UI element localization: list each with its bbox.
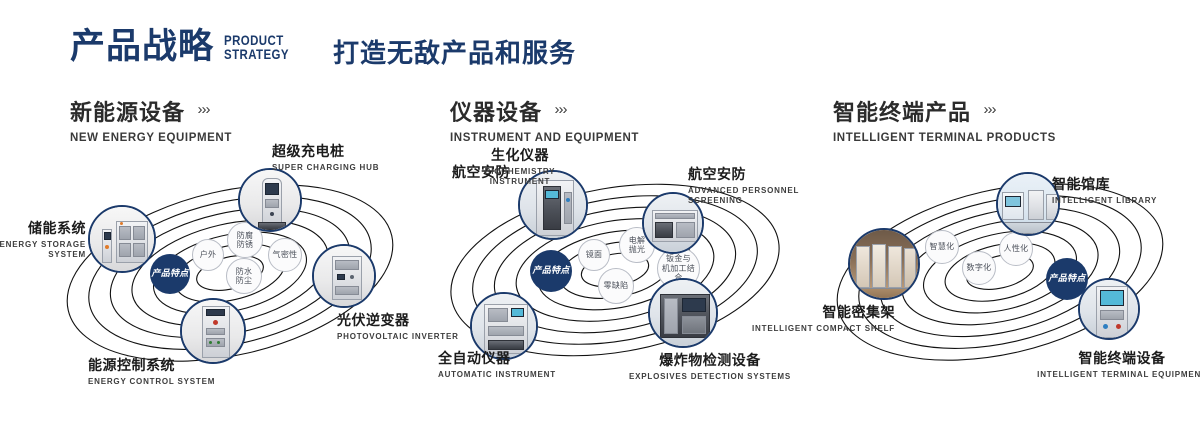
feature-bubble-waterproof: 防水 防尘 (226, 258, 262, 294)
feature-bubble-label: 智慧化 (930, 242, 955, 252)
node-label-energy-storage: 储能系统 ENERGY STORAGE SYSTEM (0, 218, 86, 260)
node-label-en: ADVANCED PERSONNEL SCREENING (688, 186, 818, 206)
feature-bubble-outdoor: 户外 (192, 239, 224, 271)
section-title-cn: 智能终端产品 (833, 95, 971, 127)
diagram-group-instrument: 产品特点 镜面 电解 抛光 零缺陷 钣金与 机加工结合 航空安防 生化仪器 BI… (430, 150, 830, 390)
feature-bubble-label: 镜面 (586, 250, 603, 260)
node-label-cn: 航空安防 (688, 164, 818, 184)
page-header: 产品战略 PRODUCT STRATEGY 打造无敌产品和服务 (0, 0, 1200, 88)
node-label-en: EXPLOSIVES DETECTION SYSTEMS (610, 372, 810, 382)
feature-bubble-humanized: 人性化 (999, 232, 1033, 266)
page-title-english-line2: STRATEGY (224, 47, 286, 61)
feature-bubble-label: 零缺陷 (604, 281, 629, 291)
node-label-automatic-instrument: 全自动仪器 AUTOMATIC INSTRUMENT (438, 348, 598, 380)
node-label-cn: 生化仪器 (460, 145, 580, 165)
node-label-en: SUPER CHARGING HUB (272, 163, 412, 173)
energy-storage-cabinet-icon (90, 207, 154, 271)
node-label-en: BIOCHEMISTRY INSTRUMENT (460, 167, 580, 187)
feature-bubble-mirror: 镜面 (578, 239, 610, 271)
page-title-english: PRODUCT STRATEGY (224, 33, 286, 61)
feature-bubble-core-label: 产品特点 (151, 269, 188, 280)
node-label-cn: 能源控制系统 (88, 355, 278, 375)
node-label-en: AUTOMATIC INSTRUMENT (438, 370, 598, 380)
product-node-photovoltaic-inverter[interactable] (312, 244, 376, 308)
section-heading-instrument: 仪器设备 ››› INSTRUMENT AND EQUIPMENT (450, 95, 639, 144)
product-node-compact-shelf[interactable] (848, 228, 920, 300)
feature-bubble-core: 产品特点 (530, 250, 572, 292)
chevron-right-icon: ››› (554, 101, 566, 118)
feature-bubble-core-label: 产品特点 (532, 266, 569, 277)
node-label-personnel-screening: 航空安防 ADVANCED PERSONNEL SCREENING (688, 164, 818, 206)
section-heading-intelligent-terminal: 智能终端产品 ››› INTELLIGENT TERMINAL PRODUCTS (833, 95, 1056, 144)
chevron-right-icon: ››› (983, 101, 995, 118)
diagram-group-intelligent-terminal: 智慧化 数字化 人性化 产品特点 智能馆库 INTELLIGENT LIBRAR… (810, 150, 1200, 390)
node-label-cn: 智能终端设备 (1032, 348, 1200, 368)
smart-library-icon (998, 174, 1058, 234)
node-label-cn: 超级充电桩 (272, 141, 412, 161)
node-label-en: INTELLIGENT LIBRARY (1052, 196, 1200, 206)
node-label-en: INTELLIGENT COMPACT SHELF (750, 324, 895, 334)
node-label-en: ENERGY STORAGE SYSTEM (0, 240, 86, 260)
page-subtitle: 打造无敌产品和服务 (333, 33, 576, 70)
feature-bubble-label: 人性化 (1004, 244, 1029, 254)
node-label-energy-control-system: 能源控制系统 ENERGY CONTROL SYSTEM (88, 355, 278, 387)
node-label-super-charging-hub: 超级充电桩 SUPER CHARGING HUB (272, 141, 412, 173)
terminal-kiosk-icon (1080, 280, 1138, 338)
section-title-en: NEW ENERGY EQUIPMENT (70, 132, 232, 144)
section-title-cn: 仪器设备 (450, 95, 542, 127)
feature-bubble-label: 电解 抛光 (629, 236, 646, 255)
node-label-cn: 爆炸物检测设备 (610, 350, 810, 370)
super-charging-hub-icon (240, 170, 300, 230)
compact-shelf-icon (850, 230, 918, 298)
product-node-explosives-detection[interactable] (648, 278, 718, 348)
feature-bubble-label: 数字化 (967, 263, 992, 273)
explosives-detector-icon (650, 280, 716, 346)
feature-bubble-digital: 数字化 (962, 251, 996, 285)
feature-bubble-label: 防腐 防锈 (237, 231, 254, 250)
product-node-energy-storage[interactable] (88, 205, 156, 273)
diagram-group-new-energy: 产品特点 户外 防腐 防锈 防水 防尘 气密性 储能系统 ENERGY STOR… (40, 150, 430, 390)
node-label-compact-shelf: 智能密集架 INTELLIGENT COMPACT SHELF (750, 302, 895, 334)
section-title-en: INSTRUMENT AND EQUIPMENT (450, 132, 639, 144)
feature-bubble-label: 户外 (200, 250, 217, 260)
section-heading-new-energy: 新能源设备 ››› NEW ENERGY EQUIPMENT (70, 95, 232, 144)
node-label-cn: 储能系统 (0, 218, 86, 238)
product-node-super-charging-hub[interactable] (238, 168, 302, 232)
section-title-cn: 新能源设备 (70, 95, 185, 127)
feature-bubble-label: 气密性 (273, 250, 298, 260)
page-title: 产品战略 (70, 27, 214, 67)
node-label-terminal-equipment: 智能终端设备 INTELLIGENT TERMINAL EQUIPMENT (1032, 348, 1200, 380)
chevron-right-icon: ››› (197, 101, 209, 118)
product-node-terminal-equipment[interactable] (1078, 278, 1140, 340)
feature-bubble-core: 产品特点 (150, 254, 190, 294)
energy-control-cabinet-icon (182, 300, 244, 362)
node-label-cn: 智能密集架 (750, 302, 895, 322)
feature-bubble-smart: 智慧化 (925, 230, 959, 264)
node-label-explosives-detection: 爆炸物检测设备 EXPLOSIVES DETECTION SYSTEMS (610, 350, 810, 382)
photovoltaic-inverter-icon (314, 246, 374, 306)
node-label-en: INTELLIGENT TERMINAL EQUIPMENT (1032, 370, 1200, 380)
node-label-cn: 智能馆库 (1052, 174, 1200, 194)
product-node-intelligent-library[interactable] (996, 172, 1060, 236)
node-label-cn: 全自动仪器 (438, 348, 598, 368)
feature-bubble-label: 防水 防尘 (236, 267, 253, 286)
feature-bubble-zero-defect: 零缺陷 (598, 268, 634, 304)
node-label-en: ENERGY CONTROL SYSTEM (88, 377, 278, 387)
feature-bubble-airtight: 气密性 (268, 238, 302, 272)
node-label-biochemistry-instrument: 生化仪器 BIOCHEMISTRY INSTRUMENT (460, 145, 580, 187)
section-title-en: INTELLIGENT TERMINAL PRODUCTS (833, 132, 1056, 144)
page-title-english-line1: PRODUCT (224, 33, 286, 47)
node-label-intelligent-library: 智能馆库 INTELLIGENT LIBRARY (1052, 174, 1200, 206)
